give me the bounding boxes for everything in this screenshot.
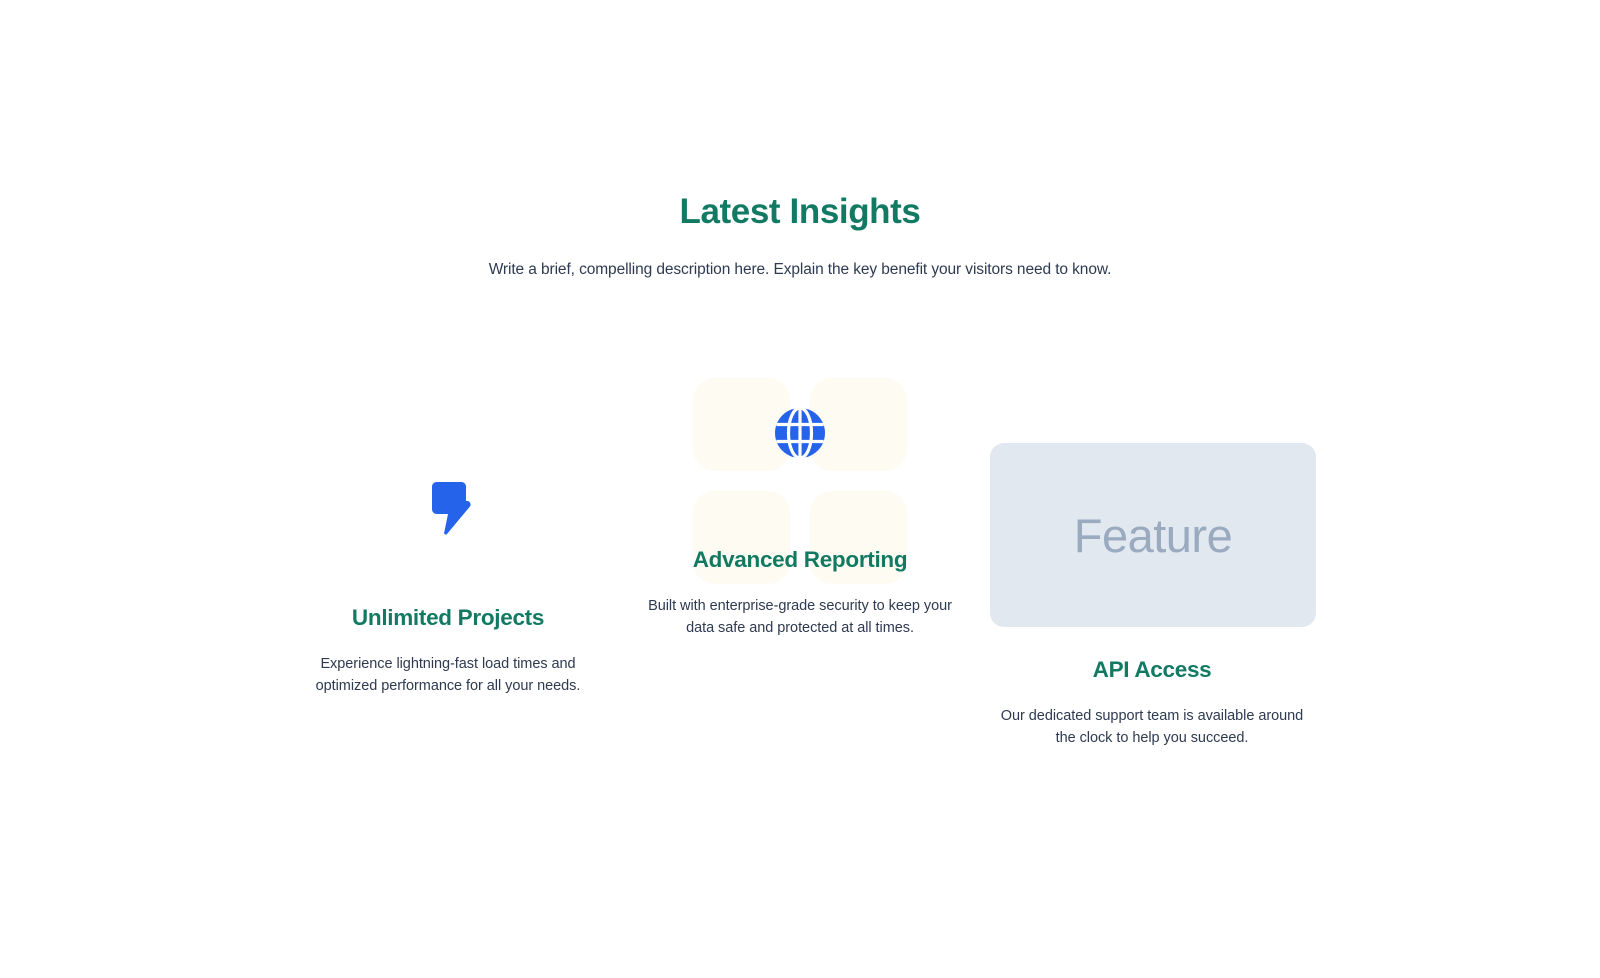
section-subtitle: Write a brief, compelling description he… (0, 259, 1600, 281)
globe-icon (773, 406, 827, 460)
feature-media: Feature (990, 443, 1314, 629)
feature-media (286, 435, 610, 580)
page-root: Latest Insights Write a brief, compellin… (0, 0, 1600, 978)
lightning-bolt-icon (422, 479, 474, 537)
page-title: Latest Insights (0, 190, 1600, 234)
feature-description: Built with enterprise-grade security to … (638, 595, 962, 639)
image-placeholder-label: Feature (1074, 508, 1232, 563)
image-placeholder: Feature (990, 443, 1316, 627)
feature-description: Our dedicated support team is available … (990, 705, 1314, 749)
feature-title: Advanced Reporting (638, 545, 962, 575)
feature-media (638, 360, 962, 505)
feature-description: Experience lightning-fast load times and… (286, 653, 610, 697)
feature-title: Unlimited Projects (286, 603, 610, 633)
feature-title: API Access (990, 655, 1314, 685)
feature-list: Unlimited Projects Experience lightning-… (0, 360, 1600, 749)
section-header: Latest Insights Write a brief, compellin… (0, 190, 1600, 281)
feature-card-unlimited-projects: Unlimited Projects Experience lightning-… (286, 435, 610, 697)
feature-card-advanced-reporting: Advanced Reporting Built with enterprise… (638, 360, 962, 639)
feature-card-api-access: Feature API Access Our dedicated support… (990, 443, 1314, 749)
